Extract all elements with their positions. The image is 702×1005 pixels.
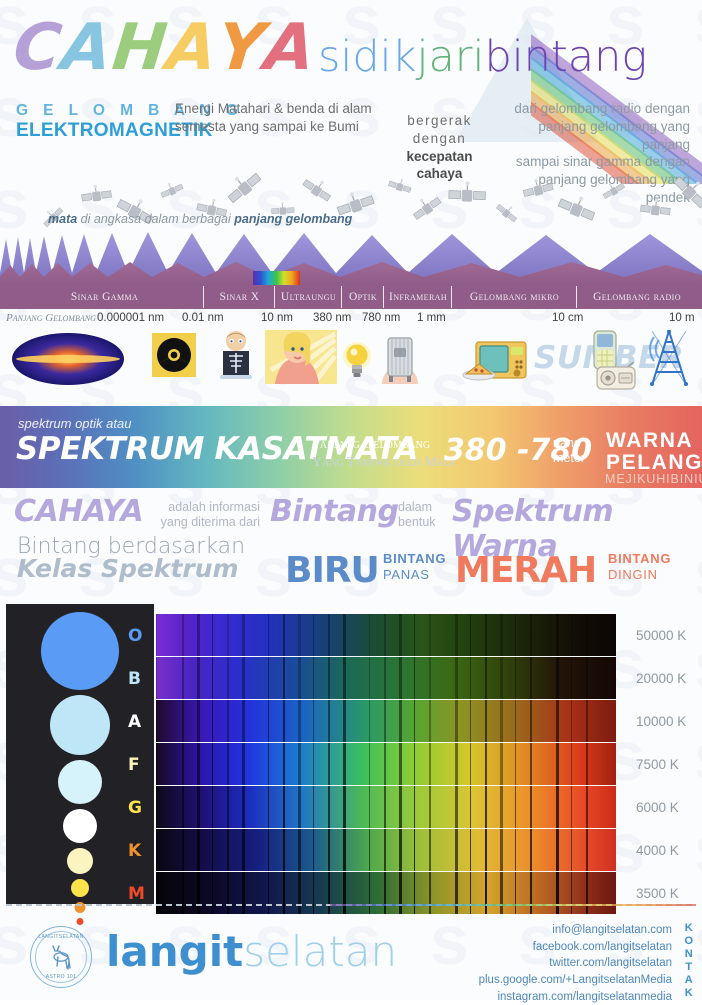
absorption-line	[399, 786, 402, 828]
contact-line[interactable]: twitter.com/langitselatan	[479, 955, 672, 972]
absorption-line	[414, 743, 415, 785]
absorption-line	[485, 743, 487, 785]
absorption-line	[227, 786, 229, 828]
absorption-line	[156, 657, 157, 699]
absorption-line	[586, 786, 588, 828]
absorption-line	[182, 743, 184, 785]
light-bulb-icon	[341, 340, 373, 382]
absorption-line	[212, 700, 213, 742]
kelas-spektrum-phrase: Kelas Spektrum	[17, 554, 239, 583]
spectral-class-letter-O: O	[128, 626, 142, 646]
absorption-line	[283, 657, 285, 699]
kontak-vertical-label: KONTAK	[684, 922, 693, 1000]
sunbathing-woman-icon	[265, 330, 337, 384]
absorption-line	[470, 657, 471, 699]
absorption-line	[343, 743, 346, 785]
absorption-line	[470, 743, 471, 785]
absorption-line	[212, 786, 213, 828]
em-band-label-gelombang-radio: Gelombang radio	[578, 285, 696, 309]
microwave-oven-icon	[462, 340, 528, 382]
absorption-line	[586, 657, 588, 699]
absorption-line	[268, 829, 269, 871]
temperature-label-K: 4000 K	[636, 843, 679, 858]
absorption-line	[384, 657, 386, 699]
absorption-line	[485, 700, 487, 742]
brand-selatan: selatan	[243, 927, 397, 976]
radio-gamma-line-1: dari gelombang radio dengan	[498, 100, 690, 118]
satellite-caption: mata di angkasa dalam berbagai panjang g…	[48, 212, 352, 226]
absorption-line	[571, 786, 572, 828]
em-band-tick	[451, 286, 452, 308]
satellite-row	[0, 165, 702, 245]
spectral-class-letter-B: B	[128, 669, 141, 689]
absorption-line	[227, 829, 229, 871]
absorption-line	[455, 829, 458, 871]
absorption-line	[429, 786, 431, 828]
panjang-gelombang-line-2: Yang Tampak oleh Mata	[312, 454, 456, 472]
absorption-line	[227, 743, 229, 785]
bintang-dingin-tag: BINTANG DINGIN	[608, 551, 671, 582]
absorption-line	[313, 743, 314, 785]
page-subtitle: sidik jari bintang	[318, 36, 647, 79]
wavelength-value: 380 nm	[313, 312, 351, 324]
absorption-line	[298, 657, 301, 699]
absorption-line	[343, 700, 346, 742]
wavelength-value: 1 mm	[417, 312, 446, 324]
mejikuhibiniu-label: MEJIKUHIBINIU	[605, 472, 702, 486]
absorption-line	[485, 657, 487, 699]
absorption-line	[268, 614, 269, 656]
spectrum-strip-F	[156, 743, 616, 785]
title-letter-a: A	[164, 16, 221, 80]
star-size-marker	[63, 809, 97, 843]
wavelength-value: 10 nm	[261, 312, 293, 324]
temperature-label-M: 3500 K	[636, 886, 679, 901]
absorption-line	[556, 786, 559, 828]
temperature-label-O: 50000 K	[636, 628, 686, 643]
em-band-tick	[203, 286, 204, 308]
adalah-informasi-line-2: yang diterima dari	[150, 515, 260, 530]
em-band-tick	[274, 286, 275, 308]
absorption-line	[227, 700, 229, 742]
absorption-line	[227, 614, 229, 656]
absorption-line	[283, 829, 285, 871]
spectrum-strip-B	[156, 657, 616, 699]
absorption-line	[414, 614, 415, 656]
absorption-line	[530, 700, 532, 742]
em-band-tick	[383, 286, 384, 308]
absorption-line	[485, 614, 487, 656]
absorption-line	[313, 700, 314, 742]
heater-radiator-icon	[378, 330, 422, 384]
spektrum-optik-label: spektrum optik atau	[18, 416, 131, 431]
absorption-line	[283, 786, 285, 828]
temperature-label-B: 20000 K	[636, 671, 686, 686]
absorption-line	[515, 743, 516, 785]
bintang-panas-line-1: BINTANG	[383, 551, 446, 567]
absorption-line	[369, 657, 370, 699]
seal-bottom-text: ASTRO 101	[31, 974, 91, 980]
em-spectrum-band-bar: Sinar GammaSinar XUltraunguOptikInframer…	[0, 285, 702, 309]
absorption-line	[515, 829, 516, 871]
absorption-line	[328, 657, 330, 699]
absorption-line	[182, 700, 184, 742]
absorption-line	[313, 614, 314, 656]
absorption-line	[197, 786, 200, 828]
absorption-line	[384, 614, 386, 656]
absorption-line	[242, 786, 245, 828]
absorption-line	[429, 743, 431, 785]
absorption-line	[500, 743, 503, 785]
dalam-bentuk-text: dalam bentuk	[398, 500, 448, 529]
brand-wordmark[interactable]: langitselatan	[106, 931, 397, 973]
contact-line[interactable]: info@langitselatan.com	[479, 922, 672, 939]
absorption-line	[414, 700, 415, 742]
satellite-caption-mid: di angkasa dalam berbagai	[77, 212, 234, 226]
em-band-label-sinar-x: Sinar X	[205, 285, 274, 309]
deer-emblem-icon	[47, 945, 77, 971]
absorption-line	[470, 700, 471, 742]
spectrum-strip-G	[156, 786, 616, 828]
absorption-line	[470, 786, 471, 828]
absorption-line	[343, 614, 346, 656]
bergerak-dengan-label: bergerak dengan	[382, 112, 497, 148]
wavelength-value: 0.01 nm	[182, 312, 224, 324]
nano-line: nano	[553, 436, 585, 451]
absorption-line	[455, 786, 458, 828]
footer: LANGITSELATAN ASTRO 101 langitselatan in…	[0, 904, 702, 1000]
spectral-class-letter-A: A	[128, 712, 141, 732]
kontak-letter: N	[684, 948, 693, 961]
merah-word: MERAH	[455, 550, 596, 591]
absorption-line	[369, 614, 370, 656]
radio-tower-icon	[646, 330, 692, 386]
spectrum-strip-A	[156, 700, 616, 742]
satellite-icon	[599, 177, 631, 208]
wavelength-value: 0.000001 nm	[97, 312, 164, 324]
absorption-line	[530, 786, 532, 828]
pelangi-line: PELANGI	[606, 452, 702, 474]
absorption-line	[500, 657, 503, 699]
temperature-label-F: 7500 K	[636, 757, 679, 772]
page-title: CAHAYA	[14, 16, 315, 80]
infographic-page: ssssssssssssssssssssssssssssssssssssssss…	[0, 0, 702, 1000]
absorption-line	[485, 829, 487, 871]
absorption-line	[515, 614, 516, 656]
absorption-line	[515, 700, 516, 742]
wavelength-value: 780 nm	[362, 312, 400, 324]
kontak-letter: K	[684, 987, 693, 1000]
em-band-label-ultraungu: Ultraungu	[276, 285, 341, 309]
spectrum-strip-O	[156, 614, 616, 656]
absorption-line	[500, 700, 503, 742]
absorption-line	[571, 657, 572, 699]
absorption-line	[268, 786, 269, 828]
absorption-line	[500, 614, 503, 656]
radio-receiver-icon	[596, 362, 638, 390]
absorption-line	[328, 614, 330, 656]
satellite-icon	[408, 190, 451, 232]
absorption-line	[156, 829, 157, 871]
absorption-line	[156, 700, 157, 742]
absorption-line	[156, 786, 157, 828]
absorption-line	[313, 657, 314, 699]
gamma-sky-map-image	[12, 333, 124, 385]
absorption-line	[182, 614, 184, 656]
absorption-line	[369, 743, 370, 785]
spectral-class-letter-M: M	[128, 884, 145, 904]
subtitle-word-sidik: sidik	[318, 36, 417, 79]
title-letter-a: A	[262, 16, 319, 80]
satellite-icon	[489, 199, 522, 232]
absorption-line	[556, 614, 559, 656]
contact-line[interactable]: instagram.com/langitselatanmedia	[479, 989, 672, 1005]
header-col-energi: Energi Matahari & benda di alam semesta …	[175, 100, 375, 136]
star-size-marker	[67, 848, 93, 874]
subtitle-word-jari: jari	[417, 36, 485, 79]
absorption-line	[455, 614, 458, 656]
absorption-line	[384, 829, 386, 871]
absorption-line	[197, 657, 200, 699]
satellite-caption-bold-pre: mata	[48, 212, 77, 226]
adalah-informasi-line-1: adalah informasi	[150, 500, 260, 515]
wavelength-scale-row: Panjang Gelombang 0.000001 nm0.01 nm10 n…	[0, 310, 702, 330]
absorption-line	[283, 700, 285, 742]
absorption-line	[197, 829, 200, 871]
em-band-label-optik: Optik	[343, 285, 383, 309]
satellite-caption-bold: panjang gelombang	[234, 212, 352, 226]
star-size-marker	[50, 695, 110, 755]
absorption-line	[298, 829, 301, 871]
absorption-line	[515, 657, 516, 699]
absorption-line	[328, 700, 330, 742]
absorption-line	[455, 657, 458, 699]
star-size-marker	[41, 612, 119, 690]
absorption-line	[369, 829, 370, 871]
stellar-spectrum-chart: OBAFGKM 50000 K20000 K10000 K7500 K6000 …	[0, 604, 702, 904]
radio-gamma-line-2: panjang gelombang yang panjang	[498, 118, 690, 154]
absorption-line	[156, 614, 157, 656]
absorption-line	[182, 786, 184, 828]
subtitle-word-bintang: bintang	[484, 36, 647, 79]
satellite-icon	[220, 165, 273, 218]
absorption-line	[268, 743, 269, 785]
absorption-line	[328, 743, 330, 785]
spectral-class-letter-K: K	[128, 841, 141, 861]
wavelength-value: 10 cm	[552, 312, 583, 324]
statement-text-rows: CAHAYA adalah informasi yang diterima da…	[0, 488, 702, 594]
absorption-line	[212, 657, 213, 699]
absorption-line	[313, 829, 314, 871]
langitselatan-seal-logo: LANGITSELATAN ASTRO 101	[30, 926, 92, 988]
panjang-gelombang-caption: Panjang Gelombang Yang Tampak oleh Mata	[312, 436, 456, 471]
meter-line: meter	[553, 451, 585, 466]
absorption-line	[571, 614, 572, 656]
adalah-informasi-text: adalah informasi yang diterima dari	[150, 500, 260, 529]
contact-list[interactable]: info@langitselatan.comfacebook.com/langi…	[479, 922, 672, 1005]
absorption-line	[242, 829, 245, 871]
absorption-line	[343, 657, 346, 699]
absorption-line	[429, 700, 431, 742]
absorption-line	[500, 829, 503, 871]
absorption-line	[530, 829, 532, 871]
absorption-line	[586, 743, 588, 785]
kontak-letter: K	[684, 922, 693, 935]
spectral-class-letter-G: G	[128, 798, 142, 818]
source-icon-row	[0, 327, 702, 405]
absorption-line	[298, 614, 301, 656]
absorption-line	[268, 700, 269, 742]
absorption-line	[500, 786, 503, 828]
absorption-line	[242, 700, 245, 742]
bintang-panas-line-2: PANAS	[383, 567, 446, 583]
satellite-icon	[79, 182, 114, 215]
bintang-dingin-line-2: DINGIN	[608, 567, 671, 583]
absorption-line	[227, 657, 229, 699]
header: CAHAYA sidik jari bintang G E L O M B A …	[0, 0, 702, 180]
absorption-line	[298, 743, 301, 785]
absorption-line	[571, 829, 572, 871]
absorption-line	[197, 743, 200, 785]
satellite-icon	[447, 180, 487, 218]
absorption-line	[414, 786, 415, 828]
absorption-line	[197, 614, 200, 656]
absorption-line	[571, 700, 572, 742]
footer-rainbow-divider	[330, 904, 696, 906]
absorption-line	[156, 743, 157, 785]
absorption-line	[384, 743, 386, 785]
absorption-line	[515, 786, 516, 828]
absorption-line	[530, 657, 532, 699]
absorption-line	[343, 786, 346, 828]
kontak-letter: O	[684, 935, 693, 948]
radiation-hazard-icon	[152, 333, 196, 377]
absorption-line	[182, 829, 184, 871]
absorption-line	[242, 743, 245, 785]
absorption-line	[369, 786, 370, 828]
bintang-word: Bintang	[270, 494, 398, 529]
nanometer-unit: nano meter	[553, 436, 585, 466]
em-band-tick	[576, 286, 577, 308]
absorption-line	[399, 657, 402, 699]
absorption-line	[212, 614, 213, 656]
wavelength-scale-title: Panjang Gelombang	[6, 312, 96, 324]
kontak-letter: A	[684, 974, 693, 987]
absorption-line	[283, 614, 285, 656]
satellite-icon	[157, 178, 188, 208]
absorption-line	[242, 657, 245, 699]
bintang-panas-tag: BINTANG PANAS	[383, 551, 446, 582]
absorption-line	[470, 829, 471, 871]
spectral-class-letter-F: F	[128, 755, 140, 775]
absorption-line	[384, 786, 386, 828]
absorption-line	[586, 829, 588, 871]
absorption-line	[429, 829, 431, 871]
absorption-line	[268, 657, 269, 699]
absorption-line	[242, 614, 245, 656]
contact-line[interactable]: facebook.com/langitselatan	[479, 939, 672, 956]
absorption-line	[414, 657, 415, 699]
kontak-letter: T	[684, 961, 693, 974]
star-size-marker	[58, 760, 102, 804]
absorption-line	[556, 829, 559, 871]
bintang-dingin-line-1: BINTANG	[608, 551, 671, 567]
absorption-line	[212, 743, 213, 785]
absorption-line	[399, 829, 402, 871]
title-letter-h: H	[109, 16, 170, 80]
cahaya-statement-word: CAHAYA	[14, 494, 143, 529]
biru-word: BIRU	[285, 550, 379, 591]
absorption-line	[399, 614, 402, 656]
satellite-icon	[520, 175, 558, 211]
absorption-line	[429, 657, 431, 699]
absorption-line	[369, 700, 370, 742]
absorption-line	[586, 614, 588, 656]
absorption-line	[429, 614, 431, 656]
em-band-tick	[341, 286, 342, 308]
absorption-line	[455, 700, 458, 742]
warna-pelangi-title: WARNA PELANGI	[606, 430, 702, 473]
absorption-line	[399, 743, 402, 785]
spectrum-strip-K	[156, 829, 616, 871]
absorption-line	[414, 829, 415, 871]
contact-line[interactable]: plus.google.com/+LangitselatanMedia	[479, 972, 672, 989]
absorption-line	[384, 700, 386, 742]
absorption-line	[399, 700, 402, 742]
title-letter-c: C	[11, 16, 66, 80]
panjang-gelombang-line-1: Panjang Gelombang	[312, 436, 456, 454]
absorption-line	[530, 743, 532, 785]
satellite-icon	[294, 172, 337, 214]
header-columns: G E L O M B A N G ELEKTROMAGNETIK Energi…	[0, 100, 702, 172]
absorption-line	[298, 786, 301, 828]
satellite-icon	[384, 175, 414, 204]
title-letter-y: Y	[214, 16, 268, 80]
absorption-line	[470, 614, 471, 656]
star-size-marker	[71, 879, 89, 897]
absorption-line	[556, 743, 559, 785]
title-letter-a: A	[59, 16, 116, 80]
brand-langit: langit	[106, 927, 243, 976]
absorption-line	[455, 743, 458, 785]
absorption-line	[212, 829, 213, 871]
absorption-line	[343, 829, 346, 871]
absorption-line	[283, 743, 285, 785]
wavelength-value: 10 m	[669, 312, 695, 324]
absorption-line	[556, 700, 559, 742]
absorption-line	[328, 829, 330, 871]
xray-patient-icon	[214, 330, 258, 382]
absorption-line	[313, 786, 314, 828]
absorption-line	[328, 786, 330, 828]
warna-line: WARNA	[606, 430, 702, 452]
absorption-line	[586, 700, 588, 742]
optical-mini-spectrum	[253, 271, 300, 285]
em-band-label-gelombang-mikro: Gelombang mikro	[453, 285, 576, 309]
satellite-icon	[550, 189, 600, 238]
visible-spectrum-banner: spektrum optik atau SPEKTRUM KASATMATA P…	[0, 406, 702, 488]
absorption-line	[530, 614, 532, 656]
absorption-line	[571, 743, 572, 785]
bentuk-line: bentuk	[398, 515, 448, 530]
temperature-label-G: 6000 K	[636, 800, 679, 815]
dalam-line: dalam	[398, 500, 448, 515]
seal-top-text: LANGITSELATAN	[31, 934, 91, 940]
absorption-line	[298, 700, 301, 742]
absorption-line	[182, 657, 184, 699]
temperature-label-A: 10000 K	[636, 714, 686, 729]
absorption-line	[197, 700, 200, 742]
